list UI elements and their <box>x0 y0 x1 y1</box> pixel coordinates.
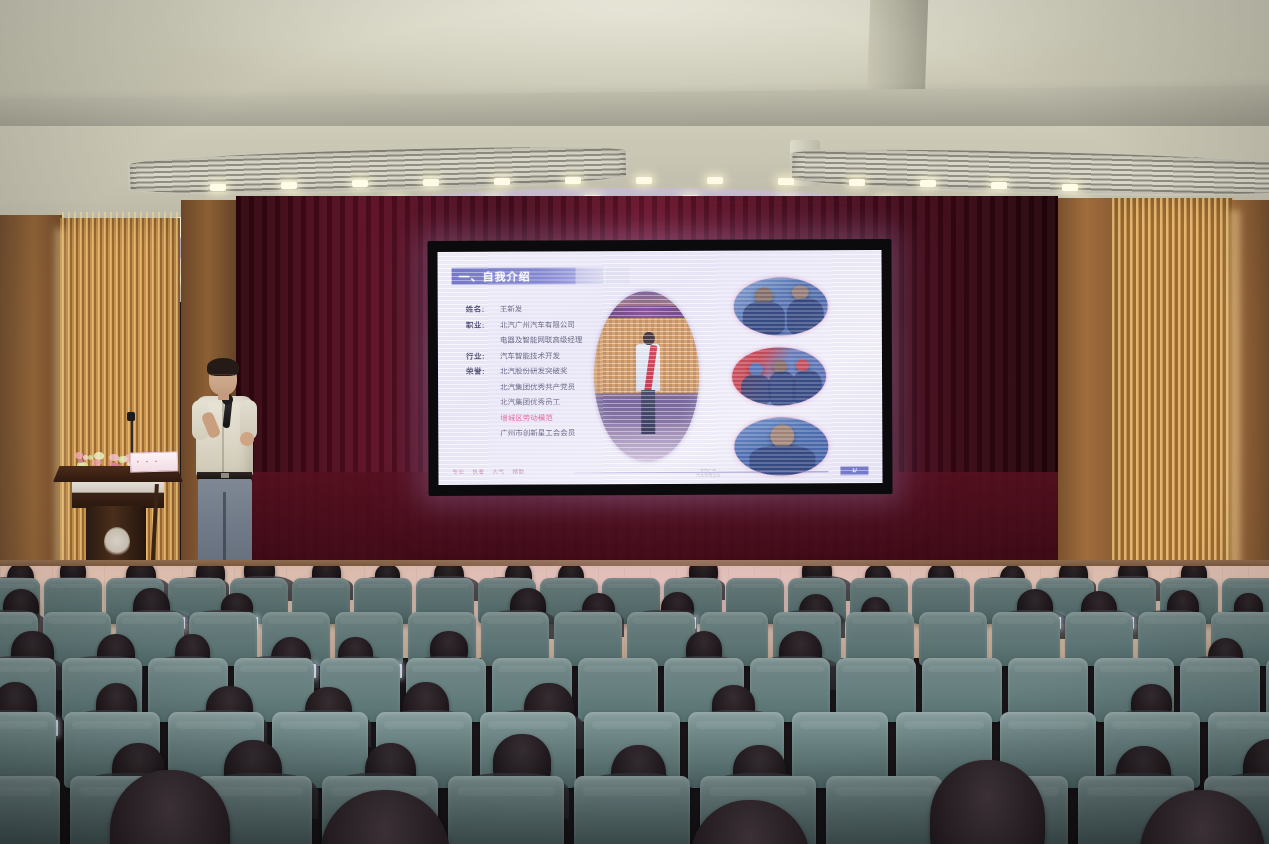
ceiling-downlight <box>1062 184 1078 191</box>
ceiling-downlight <box>565 177 581 184</box>
slide-info-value: 北汽股份研发突破奖 <box>500 363 568 379</box>
title-bar-accent-1 <box>576 267 604 284</box>
slide-info-value: 北汽集团优秀共产党员 <box>500 379 575 395</box>
audience-seat[interactable] <box>0 776 60 844</box>
slide-info-value: 电器及智能网联高级经理 <box>500 332 583 348</box>
photo-person-legs <box>641 390 655 434</box>
presentation-slide[interactable]: 一、自我介绍 姓名:王新发职业:北汽广州汽车有限公司 电器及智能网联高级经理行业… <box>437 250 882 485</box>
podium-flower <box>108 461 113 465</box>
slide-info-value: 增城区劳动模范 <box>500 410 553 426</box>
ceiling-downlight <box>494 178 510 185</box>
projection-screen-frame: 一、自我介绍 姓名:王新发职业:北汽广州汽车有限公司 电器及智能网联高级经理行业… <box>427 239 892 496</box>
slide-info-value: 王新发 <box>500 302 523 318</box>
slide-title-bar: 一、自我介绍 <box>452 267 576 285</box>
ceiling-downlight <box>636 177 652 184</box>
slide-photo-main <box>594 291 700 461</box>
slide-info-value: 北汽广州汽车有限公司 <box>500 317 575 333</box>
slide-footer-keyword: 精勤 <box>512 468 524 476</box>
presenter-belt <box>197 472 252 479</box>
slide-photo-side-1 <box>733 276 829 336</box>
ceiling-downlight <box>778 178 794 185</box>
podium-emblem <box>104 527 130 557</box>
podium-flower <box>83 455 89 459</box>
ceiling-downlight <box>920 180 936 187</box>
slide-page-badge: 1/ <box>840 466 868 475</box>
ceiling-downlight <box>991 182 1007 189</box>
audience-seat[interactable] <box>574 776 690 844</box>
audience-seat[interactable] <box>826 776 942 844</box>
ceiling-downlight <box>849 179 865 186</box>
glasses-icon <box>211 374 235 379</box>
slide-info-value: 广州市创新星工会会员 <box>500 425 575 441</box>
slide-footer: 专业执着大气精勤 北汽广州 汽车有限公司 1/ <box>452 465 872 479</box>
slide-info-label: 姓名: <box>466 302 500 318</box>
title-bar-accent-2 <box>606 267 630 284</box>
slide-photo-side-2 <box>731 346 827 406</box>
slide-info-label: 职业: <box>466 317 500 333</box>
slide-footer-keyword: 大气 <box>492 468 504 476</box>
ceiling-downlight <box>210 184 226 191</box>
podium-name-card: • • • <box>130 451 179 472</box>
slide-info-value: 北汽集团优秀员工 <box>500 394 560 410</box>
podium-name-card-text: • • • <box>137 459 160 466</box>
ceiling-downlight <box>281 182 297 189</box>
audience-seat[interactable] <box>448 776 564 844</box>
slide-footer-keyword: 专业 <box>452 468 464 476</box>
ceiling-downlight <box>423 179 439 186</box>
slide-footer-keywords: 专业执着大气精勤 <box>452 468 524 476</box>
slide-footer-note: 北汽广州 汽车有限公司 <box>696 468 720 478</box>
ceiling-downlight <box>707 177 723 184</box>
podium-mic-head <box>127 412 135 421</box>
presenter-hand <box>240 432 254 446</box>
slide-title: 一、自我介绍 <box>459 268 531 284</box>
slide-footer-keyword: 执着 <box>472 468 484 476</box>
slide-info-label: 荣誉: <box>466 364 500 380</box>
auditorium-scene: 一、自我介绍 姓名:王新发职业:北汽广州汽车有限公司 电器及智能网联高级经理行业… <box>0 0 1269 844</box>
ceiling-downlight <box>352 180 368 187</box>
podium-flower <box>92 459 102 467</box>
slide-info-label: 行业: <box>466 348 500 364</box>
audience-seating-area <box>0 566 1269 844</box>
slide-info-value: 汽车智能技术开发 <box>500 348 560 364</box>
podium-body <box>72 482 164 508</box>
